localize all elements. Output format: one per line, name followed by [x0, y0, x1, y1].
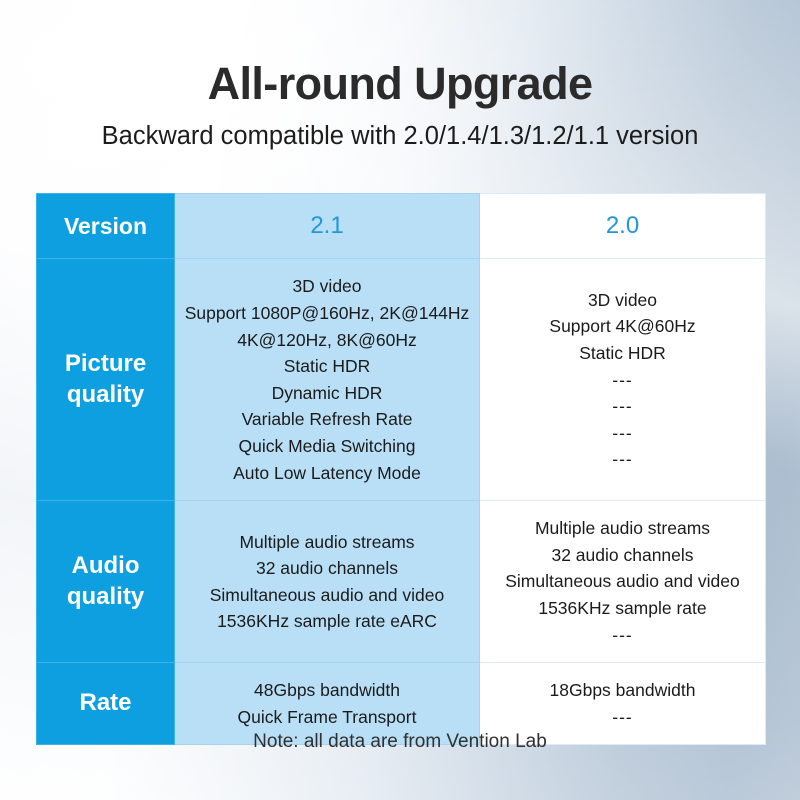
feature-list-rate-20: 18Gbps bandwidth---: [486, 677, 759, 730]
feature-line: Dynamic HDR: [181, 380, 473, 407]
footer-note: Note: all data are from Vention Lab: [0, 731, 800, 753]
feature-line: Support 1080P@160Hz, 2K@144Hz: [181, 300, 473, 327]
infographic-page: All-round Upgrade Backward compatible wi…: [0, 0, 800, 800]
feature-line: Simultaneous audio and video: [181, 582, 473, 609]
row-label-picture-quality: Picture quality: [37, 259, 175, 501]
feature-line: 1536KHz sample rate eARC: [181, 608, 473, 635]
table-header-column-21: 2.1: [175, 194, 480, 259]
feature-line: 1536KHz sample rate: [486, 595, 759, 622]
row-label-line-2: quality: [67, 583, 144, 610]
feature-placeholder: ---: [486, 393, 759, 420]
feature-line: Quick Frame Transport: [181, 704, 473, 731]
feature-line: 32 audio channels: [486, 542, 759, 569]
feature-placeholder: ---: [486, 367, 759, 394]
feature-line: 3D video: [486, 287, 759, 314]
page-title: All-round Upgrade: [0, 58, 800, 110]
feature-list-rate-21: 48Gbps bandwidthQuick Frame Transport: [181, 677, 473, 730]
row-label-line-1: Picture: [65, 350, 146, 377]
page-subtitle: Backward compatible with 2.0/1.4/1.3/1.2…: [0, 122, 800, 151]
table-row-audio-quality: Audio quality Multiple audio streams32 a…: [37, 501, 766, 663]
feature-placeholder: ---: [486, 446, 759, 473]
feature-line: 4K@120Hz, 8K@60Hz: [181, 327, 473, 354]
row-label-line-1: Audio: [72, 552, 140, 579]
feature-list-picture-21: 3D videoSupport 1080P@160Hz, 2K@144Hz4K@…: [181, 273, 473, 486]
feature-line: Static HDR: [486, 340, 759, 367]
feature-list-audio-20: Multiple audio streams32 audio channelsS…: [486, 515, 759, 648]
feature-line: Multiple audio streams: [181, 529, 473, 556]
feature-line: 32 audio channels: [181, 555, 473, 582]
feature-line: Quick Media Switching: [181, 433, 473, 460]
feature-line: Variable Refresh Rate: [181, 406, 473, 433]
feature-line: 3D video: [181, 273, 473, 300]
feature-line: 18Gbps bandwidth: [486, 677, 759, 704]
comparison-table: Version 2.1 2.0 Picture quality 3D video…: [36, 193, 766, 745]
feature-line: 48Gbps bandwidth: [181, 677, 473, 704]
feature-list-audio-21: Multiple audio streams32 audio channelsS…: [181, 529, 473, 635]
cell-picture-quality-20: 3D videoSupport 4K@60HzStatic HDR-------…: [480, 259, 766, 501]
feature-placeholder: ---: [486, 622, 759, 649]
table-header-row: Version 2.1 2.0: [37, 194, 766, 259]
feature-placeholder: ---: [486, 420, 759, 447]
feature-placeholder: ---: [486, 704, 759, 731]
row-label-line-1: Rate: [79, 689, 131, 716]
cell-audio-quality-21: Multiple audio streams32 audio channelsS…: [175, 501, 480, 663]
feature-line: Simultaneous audio and video: [486, 568, 759, 595]
version-21-value: 2.1: [310, 212, 343, 239]
feature-list-picture-20: 3D videoSupport 4K@60HzStatic HDR-------…: [486, 287, 759, 473]
cell-audio-quality-20: Multiple audio streams32 audio channelsS…: [480, 501, 766, 663]
version-20-value: 2.0: [606, 212, 639, 239]
row-label-line-2: quality: [67, 381, 144, 408]
table-header-column-20: 2.0: [480, 194, 766, 259]
feature-line: Auto Low Latency Mode: [181, 460, 473, 487]
table-row-picture-quality: Picture quality 3D videoSupport 1080P@16…: [37, 259, 766, 501]
feature-line: Multiple audio streams: [486, 515, 759, 542]
table-header-version-label: Version: [37, 194, 175, 259]
feature-line: Support 4K@60Hz: [486, 313, 759, 340]
feature-line: Static HDR: [181, 353, 473, 380]
cell-picture-quality-21: 3D videoSupport 1080P@160Hz, 2K@144Hz4K@…: [175, 259, 480, 501]
row-label-audio-quality: Audio quality: [37, 501, 175, 663]
